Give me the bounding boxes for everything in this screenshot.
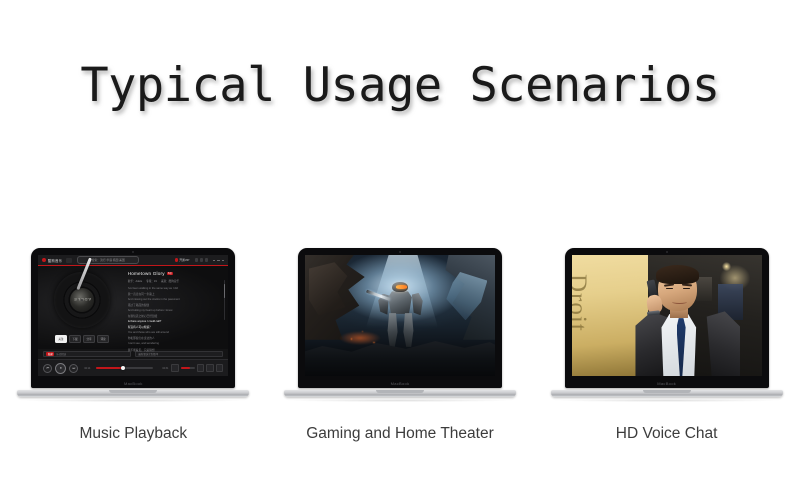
- scenario-hd-voice-chat: Droit: [536, 248, 798, 443]
- app-logo: 酷狗音乐: [42, 258, 62, 263]
- transport-right-group: [171, 364, 223, 372]
- laptop-lid-2: MacBook: [298, 248, 502, 388]
- scenario-list: 酷狗音乐 搜索：流行 华语 韩国 美国 开通VIP: [0, 248, 800, 443]
- laptop-shadow-2: [290, 399, 510, 402]
- page-title: Typical Usage Scenarios: [0, 58, 800, 113]
- smile: [672, 299, 687, 303]
- promo-strip-right[interactable]: 最新量身定制歌单: [135, 351, 223, 357]
- lyrics-panel: Hometown Glory SQ 歌手：Adele 专辑：19 来源：酷狗音乐…: [126, 266, 229, 349]
- device-brand-label: MacBook: [565, 381, 769, 386]
- vip-crown-icon: [175, 258, 179, 262]
- laptop-lid-3: Droit: [565, 248, 769, 388]
- track-action-chips: 关注 下载 分享 评论: [55, 335, 109, 343]
- lyric-line: 我不能看见，只是猜想: [128, 348, 223, 352]
- laptop-lid-1: 酷狗音乐 搜索：流行 华语 韩国 美国 开通VIP: [31, 248, 235, 388]
- album-art-panel: ADELE 关注 下载 分享 评论: [38, 266, 125, 349]
- window-controls[interactable]: [213, 260, 225, 261]
- song-artist: 歌手：Adele: [128, 279, 142, 283]
- maximize-icon[interactable]: [217, 260, 220, 261]
- lyric-line: You and those who are still around: [128, 331, 223, 334]
- player-toolbar: 酷狗音乐 搜索：流行 华语 韩国 美国 开通VIP: [38, 255, 228, 266]
- device-brand-label: MacBook: [31, 381, 235, 386]
- elapsed-time: 02:14: [84, 367, 90, 370]
- promo-strip-left[interactable]: 独家 乐库精选: [43, 351, 131, 357]
- scenario-caption-music: Music Playback: [79, 425, 187, 443]
- ember-particle: [351, 338, 353, 340]
- lyric-line-active: Is there anyone I could call?: [128, 320, 223, 323]
- song-title-row: Hometown Glory SQ: [128, 271, 223, 276]
- volume-fill: [181, 367, 190, 368]
- promo-text: 乐库精选: [56, 352, 66, 356]
- chip-comment[interactable]: 评论: [97, 335, 109, 343]
- soldier-left-leg: [387, 313, 398, 347]
- chip-share[interactable]: 分享: [83, 335, 95, 343]
- webcam-icon: [399, 251, 401, 253]
- promo-text: 最新量身定制歌单: [138, 352, 158, 356]
- scenario-gaming-home-theater: MacBook Gaming and Home Theater: [269, 248, 531, 443]
- chip-follow[interactable]: 关注: [55, 335, 67, 343]
- lyric-line: And tutting my heart up before I knew: [128, 309, 223, 312]
- hair: [656, 265, 699, 284]
- settings-icon[interactable]: [205, 258, 209, 262]
- skin-icon[interactable]: [195, 258, 199, 262]
- soldier-visor: [396, 285, 407, 289]
- laptop-base-3: [551, 390, 783, 397]
- webcam-icon: [666, 251, 668, 253]
- voice-chat-photo: Droit: [572, 255, 762, 376]
- song-meta: 歌手：Adele 专辑：19 来源：酷狗音乐: [128, 279, 223, 283]
- webcam-icon: [132, 251, 134, 253]
- laptop-screen-1: 酷狗音乐 搜索：流行 华语 韩国 美国 开通VIP: [38, 255, 228, 376]
- seek-handle[interactable]: [121, 366, 125, 370]
- promo-tag: 独家: [46, 352, 54, 356]
- lyrics-scrollbar[interactable]: [224, 280, 225, 320]
- soldier-torso: [388, 291, 412, 313]
- lyric-line-active: 有没有人可以倾诉？: [128, 325, 223, 329]
- lyric-line: 在我知道之前心已经温暖: [128, 314, 223, 318]
- previous-track-button[interactable]: ⏮: [43, 364, 52, 373]
- quality-badge: SQ: [167, 272, 173, 275]
- song-source: 来源：酷狗音乐: [161, 279, 179, 283]
- lyric-line: I've been walking in the same way as I d…: [128, 287, 223, 290]
- seek-fill: [96, 367, 122, 368]
- lyric-line: 你和那些仍在身边的人: [128, 336, 223, 340]
- music-player-app: 酷狗音乐 搜索：流行 华语 韩国 美国 开通VIP: [38, 255, 228, 376]
- lyrics-toggle-icon[interactable]: [206, 364, 214, 372]
- logo-mark-icon: [42, 258, 46, 262]
- eyebrow-right: [682, 283, 692, 286]
- total-time: 04:31: [162, 367, 168, 370]
- soldier-right-arm: [412, 293, 423, 315]
- minimize-icon[interactable]: [213, 260, 216, 261]
- laptop-screen-3: Droit: [572, 255, 762, 376]
- toolbar-right-group: 开通VIP: [175, 258, 225, 262]
- player-body: ADELE 关注 下载 分享 评论: [38, 266, 228, 349]
- message-icon[interactable]: [200, 258, 204, 262]
- laptop-device-3: Droit: [551, 248, 783, 403]
- game-scene-image: [305, 255, 495, 376]
- laptop-base-2: [284, 390, 516, 397]
- lyric-line: And missing out the cracks in the paveme…: [128, 298, 223, 301]
- equalizer-icon[interactable]: [197, 364, 205, 372]
- laptop-device-2: MacBook: [284, 248, 516, 403]
- volume-icon[interactable]: [171, 364, 179, 372]
- lyrics-lines: I've been walking in the same way as I d…: [128, 287, 223, 352]
- volume-slider[interactable]: [181, 367, 195, 368]
- chip-download[interactable]: 下载: [69, 335, 81, 343]
- lyric-line: I can't see, and wondering: [128, 342, 223, 345]
- laptop-screen-2: [305, 255, 495, 376]
- scenario-caption-voice: HD Voice Chat: [616, 425, 718, 443]
- record-spindle-icon: [81, 299, 83, 301]
- device-brand-label: MacBook: [298, 381, 502, 386]
- playlist-icon[interactable]: [216, 364, 224, 372]
- wall-sign-text: Droit: [572, 274, 592, 332]
- lyric-line: 错过了路面的裂缝: [128, 303, 223, 307]
- app-logo-label: 酷狗音乐: [48, 258, 62, 263]
- laptop-device-1: 酷狗音乐 搜索：流行 华语 韩国 美国 开通VIP: [17, 248, 249, 403]
- close-icon[interactable]: [222, 260, 225, 261]
- player-transport-bar: ⏮ ⏸ ⏭ 02:14 04:31: [38, 359, 228, 376]
- vip-button[interactable]: 开通VIP: [175, 258, 190, 262]
- lyric-line: 我一直走在同一条路上: [128, 292, 223, 296]
- seek-slider[interactable]: [96, 367, 153, 368]
- scenario-caption-gaming: Gaming and Home Theater: [306, 425, 494, 443]
- next-track-button[interactable]: ⏭: [69, 364, 78, 373]
- laptop-base-1: [17, 390, 249, 397]
- play-pause-button[interactable]: ⏸: [55, 363, 66, 374]
- suit-jacket-right: [699, 311, 740, 376]
- song-title: Hometown Glory: [128, 271, 165, 276]
- armored-soldier-figure: [375, 282, 424, 352]
- scenario-music-playback: 酷狗音乐 搜索：流行 华语 韩国 美国 开通VIP: [2, 248, 264, 443]
- toolbar-icon-group[interactable]: [195, 258, 209, 262]
- song-album: 专辑：19: [146, 279, 157, 283]
- laptop-shadow-1: [23, 399, 243, 402]
- laptop-shadow-3: [557, 399, 777, 402]
- nav-back-button[interactable]: [66, 258, 72, 263]
- vip-label: 开通VIP: [179, 258, 189, 262]
- businessman-figure: [629, 265, 743, 376]
- soldier-right-leg: [403, 313, 414, 347]
